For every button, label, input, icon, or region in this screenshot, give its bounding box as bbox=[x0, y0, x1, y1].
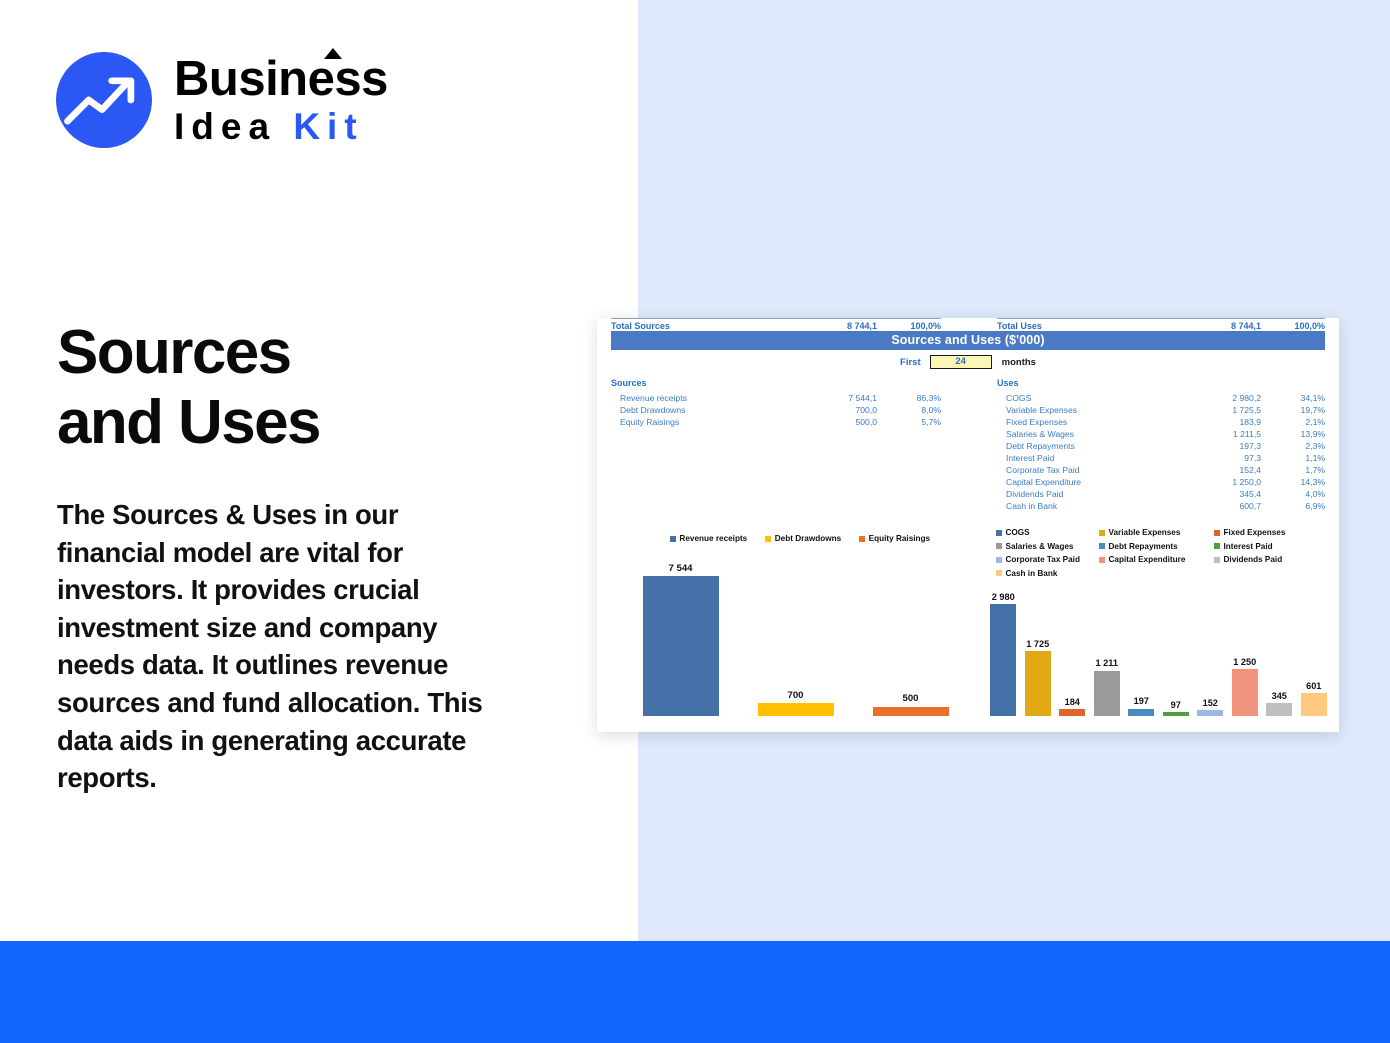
legend-label: Corporate Tax Paid bbox=[1006, 555, 1080, 564]
bar-value-label: 184 bbox=[1065, 697, 1080, 707]
legend-swatch-icon bbox=[765, 536, 771, 542]
table-row: Corporate Tax Paid152,41,7% bbox=[997, 464, 1325, 476]
total-uses-value: 8 744,1 bbox=[1187, 321, 1261, 331]
legend-item[interactable]: Interest Paid bbox=[1214, 542, 1326, 551]
bar[interactable] bbox=[990, 604, 1016, 716]
brand-logo: Business Idea Kit bbox=[56, 52, 388, 148]
legend-label: Cash in Bank bbox=[1006, 569, 1058, 578]
months-control-row: First 24 months bbox=[597, 355, 1339, 369]
total-sources-label: Total Sources bbox=[611, 321, 803, 331]
bar-value-label: 197 bbox=[1134, 696, 1149, 706]
row-label: Corporate Tax Paid bbox=[997, 464, 1187, 476]
legend-label: Debt Repayments bbox=[1109, 542, 1178, 551]
legend-item[interactable]: Debt Repayments bbox=[1099, 542, 1214, 551]
brand-name-line1: Business bbox=[174, 53, 388, 105]
uses-plot-area: 2 9801 7251841 211197971521 250345601 bbox=[986, 586, 1331, 716]
legend-label: Interest Paid bbox=[1224, 542, 1273, 551]
legend-swatch-icon bbox=[996, 530, 1002, 536]
bar[interactable] bbox=[1163, 712, 1189, 716]
legend-label: Capital Expenditure bbox=[1109, 555, 1186, 564]
bar[interactable] bbox=[1059, 709, 1085, 716]
row-percent: 1,1% bbox=[1261, 452, 1325, 464]
bar-value-label: 601 bbox=[1306, 681, 1321, 691]
brand-kit-text: Kit bbox=[293, 106, 363, 147]
sources-bar-chart: 7 544700500 bbox=[623, 556, 968, 716]
legend-swatch-icon bbox=[1214, 557, 1220, 563]
circumflex-accent-icon bbox=[324, 48, 342, 59]
bar-group: 2 980 bbox=[986, 586, 1021, 716]
bar-group: 601 bbox=[1297, 586, 1332, 716]
months-label: months bbox=[1002, 357, 1036, 368]
bar-value-label: 500 bbox=[902, 693, 918, 704]
table-row: Debt Repayments197,32,3% bbox=[997, 440, 1325, 452]
row-percent: 8,0% bbox=[877, 404, 941, 416]
bar-value-label: 7 544 bbox=[668, 563, 692, 574]
row-label: Interest Paid bbox=[997, 452, 1187, 464]
row-value: 7 544,1 bbox=[803, 392, 877, 404]
uses-bar-chart: 2 9801 7251841 211197971521 250345601 bbox=[986, 586, 1331, 716]
row-value: 600,7 bbox=[1187, 500, 1261, 512]
row-percent: 2,1% bbox=[1261, 416, 1325, 428]
bar-group: 97 bbox=[1159, 586, 1194, 716]
brand-name-text: Business bbox=[174, 52, 388, 106]
row-label: Debt Drawdowns bbox=[611, 404, 803, 416]
slide-root: Business Idea Kit Sources and Uses The S… bbox=[0, 0, 1390, 1043]
legend-item[interactable]: COGS bbox=[996, 528, 1099, 537]
bar-value-label: 1 725 bbox=[1026, 639, 1049, 649]
legend-swatch-icon bbox=[859, 536, 865, 542]
row-label: Salaries & Wages bbox=[997, 428, 1187, 440]
row-value: 2 980,2 bbox=[1187, 392, 1261, 404]
legend-label: Fixed Expenses bbox=[1224, 528, 1286, 537]
row-percent: 13,9% bbox=[1261, 428, 1325, 440]
legend-item[interactable]: Fixed Expenses bbox=[1214, 528, 1326, 537]
bar[interactable] bbox=[1266, 703, 1292, 716]
row-value: 183,9 bbox=[1187, 416, 1261, 428]
row-value: 700,0 bbox=[803, 404, 877, 416]
months-input[interactable]: 24 bbox=[930, 355, 992, 369]
total-sources-row: Total Sources 8 744,1 100,0% bbox=[611, 318, 941, 331]
row-percent: 5,7% bbox=[877, 416, 941, 428]
bar-group: 7 544 bbox=[623, 556, 738, 716]
bar-value-label: 345 bbox=[1272, 691, 1287, 701]
row-percent: 14,3% bbox=[1261, 476, 1325, 488]
legend-swatch-icon bbox=[1099, 530, 1105, 536]
page-title: Sources and Uses bbox=[57, 318, 577, 458]
row-value: 345,4 bbox=[1187, 488, 1261, 500]
legend-item[interactable]: Capital Expenditure bbox=[1099, 555, 1214, 564]
sources-heading: Sources bbox=[611, 378, 941, 388]
bar[interactable] bbox=[1197, 710, 1223, 716]
legend-swatch-icon bbox=[1214, 530, 1220, 536]
legend-swatch-icon bbox=[1099, 543, 1105, 549]
table-row: COGS2 980,234,1% bbox=[997, 392, 1325, 404]
total-uses-label: Total Uses bbox=[997, 321, 1187, 331]
bottom-accent-bar bbox=[0, 941, 1390, 1043]
brand-name-line2: Idea Kit bbox=[174, 107, 388, 147]
first-label: First bbox=[900, 357, 921, 368]
total-uses-row: Total Uses 8 744,1 100,0% bbox=[997, 318, 1325, 331]
table-row: Interest Paid97,31,1% bbox=[997, 452, 1325, 464]
row-value: 1 725,5 bbox=[1187, 404, 1261, 416]
table-row: Equity Raisings500,05,7% bbox=[611, 416, 941, 428]
total-sources-value: 8 744,1 bbox=[803, 321, 877, 331]
legend-label: Salaries & Wages bbox=[1006, 542, 1074, 551]
bar[interactable] bbox=[1025, 651, 1051, 716]
row-value: 1 211,5 bbox=[1187, 428, 1261, 440]
row-percent: 2,3% bbox=[1261, 440, 1325, 452]
uses-chart-legend: COGSVariable ExpensesFixed ExpensesSalar… bbox=[996, 528, 1326, 578]
row-value: 500,0 bbox=[803, 416, 877, 428]
bar-group: 152 bbox=[1193, 586, 1228, 716]
bar[interactable] bbox=[1232, 669, 1258, 716]
bar-group: 700 bbox=[738, 556, 853, 716]
row-value: 97,3 bbox=[1187, 452, 1261, 464]
sheet-title-bar: Sources and Uses ($'000) bbox=[611, 331, 1325, 350]
row-label: Debt Repayments bbox=[997, 440, 1187, 452]
spreadsheet-screenshot-card: Sources and Uses ($'000) First 24 months… bbox=[597, 318, 1339, 732]
sources-rows: Revenue receipts7 544,186,3%Debt Drawdow… bbox=[611, 392, 941, 428]
bar[interactable] bbox=[1128, 709, 1154, 716]
legend-item[interactable]: Equity Raisings bbox=[859, 534, 930, 543]
bar-value-label: 700 bbox=[787, 690, 803, 701]
table-row: Fixed Expenses183,92,1% bbox=[997, 416, 1325, 428]
bar-value-label: 152 bbox=[1203, 698, 1218, 708]
bar[interactable] bbox=[758, 703, 834, 716]
bar[interactable] bbox=[1301, 693, 1327, 716]
legend-swatch-icon bbox=[996, 557, 1002, 563]
row-label: Variable Expenses bbox=[997, 404, 1187, 416]
row-percent: 86,3% bbox=[877, 392, 941, 404]
legend-label: Dividends Paid bbox=[1224, 555, 1283, 564]
bar-value-label: 1 250 bbox=[1233, 657, 1256, 667]
bar[interactable] bbox=[1094, 671, 1120, 717]
page-description: The Sources & Uses in our financial mode… bbox=[57, 496, 507, 797]
row-label: Fixed Expenses bbox=[997, 416, 1187, 428]
legend-item[interactable]: Corporate Tax Paid bbox=[996, 555, 1099, 564]
row-label: Dividends Paid bbox=[997, 488, 1187, 500]
row-value: 1 250,0 bbox=[1187, 476, 1261, 488]
legend-item[interactable]: Revenue receipts bbox=[670, 534, 747, 543]
row-percent: 4,0% bbox=[1261, 488, 1325, 500]
row-label: COGS bbox=[997, 392, 1187, 404]
row-value: 197,3 bbox=[1187, 440, 1261, 452]
row-percent: 6,9% bbox=[1261, 500, 1325, 512]
legend-label: Variable Expenses bbox=[1109, 528, 1181, 537]
legend-item[interactable]: Salaries & Wages bbox=[996, 542, 1099, 551]
legend-swatch-icon bbox=[996, 570, 1002, 576]
sources-chart-legend: Revenue receiptsDebt DrawdownsEquity Rai… bbox=[635, 534, 965, 543]
table-row: Debt Drawdowns700,08,0% bbox=[611, 404, 941, 416]
table-row: Cash in Bank600,76,9% bbox=[997, 500, 1325, 512]
bar-group: 1 725 bbox=[1021, 586, 1056, 716]
table-row: Dividends Paid345,44,0% bbox=[997, 488, 1325, 500]
total-uses-pct: 100,0% bbox=[1261, 321, 1325, 331]
uses-table: Uses COGS2 980,234,1%Variable Expenses1 … bbox=[997, 378, 1325, 512]
bar-group: 345 bbox=[1262, 586, 1297, 716]
bar-group: 500 bbox=[853, 556, 968, 716]
row-label: Cash in Bank bbox=[997, 500, 1187, 512]
table-row: Revenue receipts7 544,186,3% bbox=[611, 392, 941, 404]
bar[interactable] bbox=[873, 707, 949, 716]
row-label: Equity Raisings bbox=[611, 416, 803, 428]
table-row: Capital Expenditure1 250,014,3% bbox=[997, 476, 1325, 488]
bar-value-label: 1 211 bbox=[1096, 658, 1118, 668]
bar-group: 184 bbox=[1055, 586, 1090, 716]
legend-item[interactable]: Cash in Bank bbox=[996, 569, 1099, 578]
row-percent: 34,1% bbox=[1261, 392, 1325, 404]
row-percent: 1,7% bbox=[1261, 464, 1325, 476]
bar-value-label: 97 bbox=[1171, 700, 1181, 710]
bar-value-label: 2 980 bbox=[992, 592, 1015, 602]
bar-group: 1 211 bbox=[1090, 586, 1125, 716]
table-row: Variable Expenses1 725,519,7% bbox=[997, 404, 1325, 416]
uses-rows: COGS2 980,234,1%Variable Expenses1 725,5… bbox=[997, 392, 1325, 512]
legend-swatch-icon bbox=[1099, 557, 1105, 563]
row-value: 152,4 bbox=[1187, 464, 1261, 476]
legend-swatch-icon bbox=[996, 543, 1002, 549]
uses-heading: Uses bbox=[997, 378, 1325, 388]
table-row: Salaries & Wages1 211,513,9% bbox=[997, 428, 1325, 440]
legend-item[interactable]: Debt Drawdowns bbox=[765, 534, 841, 543]
legend-swatch-icon bbox=[670, 536, 676, 542]
sources-plot-area: 7 544700500 bbox=[623, 556, 968, 716]
legend-label: Revenue receipts bbox=[679, 534, 747, 543]
legend-swatch-icon bbox=[1214, 543, 1220, 549]
legend-label: COGS bbox=[1006, 528, 1030, 537]
bar[interactable] bbox=[643, 576, 719, 716]
total-sources-pct: 100,0% bbox=[877, 321, 941, 331]
row-percent: 19,7% bbox=[1261, 404, 1325, 416]
brand-idea-text: Idea bbox=[174, 106, 276, 147]
legend-label: Debt Drawdowns bbox=[775, 534, 841, 543]
bar-group: 197 bbox=[1124, 586, 1159, 716]
legend-label: Equity Raisings bbox=[869, 534, 930, 543]
sources-table: Sources Revenue receipts7 544,186,3%Debt… bbox=[611, 378, 941, 428]
growth-chart-circle-icon bbox=[56, 52, 152, 148]
bar-group: 1 250 bbox=[1228, 586, 1263, 716]
row-label: Capital Expenditure bbox=[997, 476, 1187, 488]
legend-item[interactable]: Variable Expenses bbox=[1099, 528, 1214, 537]
legend-item[interactable]: Dividends Paid bbox=[1214, 555, 1326, 564]
row-label: Revenue receipts bbox=[611, 392, 803, 404]
